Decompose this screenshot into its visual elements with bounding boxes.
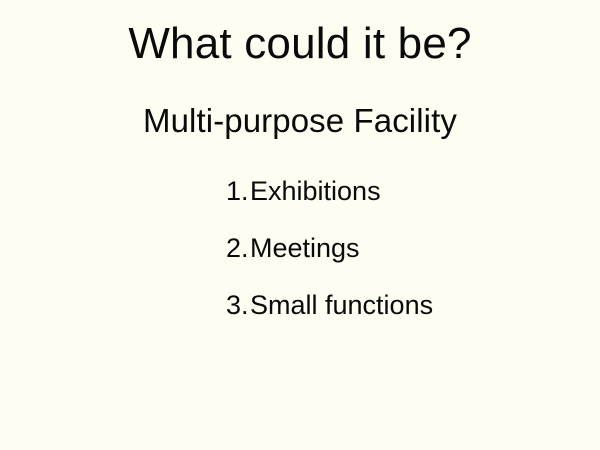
list-item: 2. Meetings: [226, 235, 433, 262]
list-item-marker: 3.: [226, 292, 250, 319]
list-item-label: Exhibitions: [250, 178, 381, 205]
presentation-slide: What could it be? Multi-purpose Facility…: [0, 0, 600, 450]
list-item: 3. Small functions: [226, 292, 433, 319]
list-item-marker: 1.: [226, 178, 250, 205]
slide-subtitle: Multi-purpose Facility: [0, 104, 600, 137]
list-item-label: Meetings: [250, 235, 360, 262]
list-item-label: Small functions: [250, 292, 433, 319]
slide-title: What could it be?: [0, 22, 600, 66]
numbered-list: 1. Exhibitions 2. Meetings 3. Small func…: [226, 178, 433, 319]
list-item-marker: 2.: [226, 235, 250, 262]
list-item: 1. Exhibitions: [226, 178, 433, 205]
